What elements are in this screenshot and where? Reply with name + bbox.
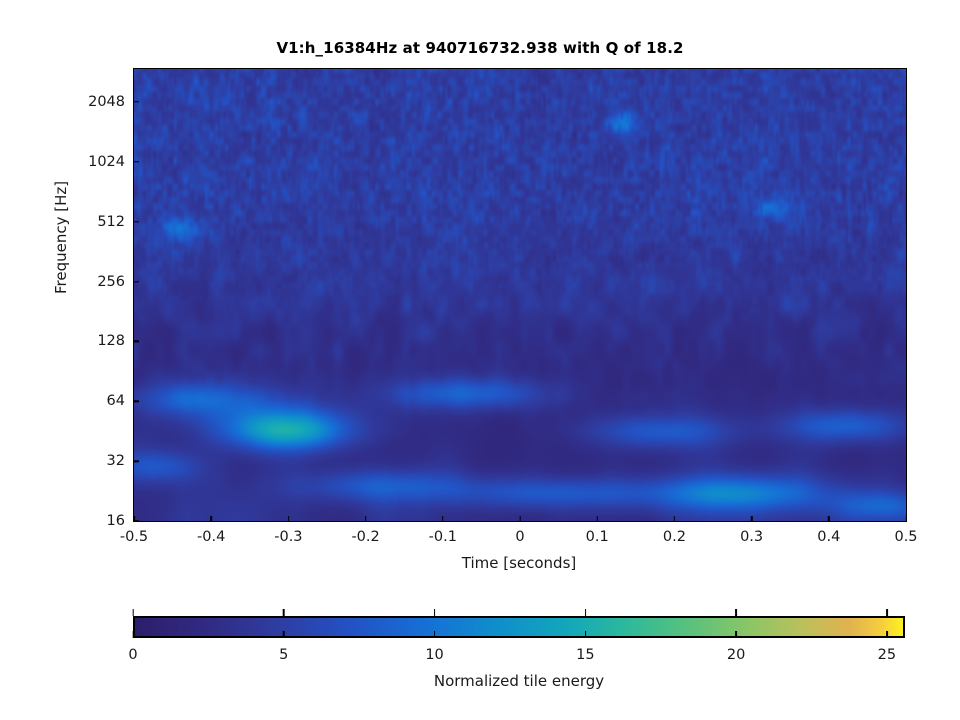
- y-axis-label: Frequency [Hz]: [52, 181, 70, 294]
- x-tick--0p3: -0.3: [274, 521, 302, 545]
- x-tick-0p1: 0.1: [586, 521, 609, 545]
- y-tick-128: 128: [97, 333, 134, 349]
- colorbar-tick-25: 25: [878, 638, 896, 663]
- y-tick-256: 256: [97, 274, 134, 290]
- spectrogram-image[interactable]: [134, 69, 906, 521]
- y-tick-1024: 1024: [88, 154, 134, 170]
- colorbar-tick-0: 0: [128, 638, 137, 663]
- x-tick-0: 0: [515, 521, 524, 545]
- colorbar-tick-10: 10: [425, 638, 443, 663]
- page-title: V1:h_16384Hz at 940716732.938 with Q of …: [0, 39, 960, 57]
- colorbar-gradient: [135, 618, 903, 636]
- colorbar-tick-15: 15: [576, 638, 594, 663]
- x-tick--0p2: -0.2: [351, 521, 379, 545]
- x-axis-label: Time [seconds]: [133, 554, 905, 572]
- x-tick-0p5: 0.5: [894, 521, 917, 545]
- colorbar-label: Normalized tile energy: [133, 672, 905, 690]
- y-tick-512: 512: [97, 214, 134, 230]
- y-tick-32: 32: [107, 453, 134, 469]
- y-tick-2048: 2048: [88, 94, 134, 110]
- x-tick--0p5: -0.5: [120, 521, 148, 545]
- x-tick-0p2: 0.2: [663, 521, 686, 545]
- colorbar-tick-20: 20: [727, 638, 745, 663]
- y-tick-64: 64: [107, 393, 134, 409]
- x-tick--0p4: -0.4: [197, 521, 225, 545]
- x-tick-0p4: 0.4: [817, 521, 840, 545]
- colorbar[interactable]: [133, 616, 905, 638]
- spectrogram-figure: V1:h_16384Hz at 940716732.938 with Q of …: [0, 0, 960, 720]
- spectrogram-axes[interactable]: 16326412825651210242048 -0.5-0.4-0.3-0.2…: [133, 68, 907, 522]
- x-tick--0p1: -0.1: [429, 521, 457, 545]
- x-tick-0p3: 0.3: [740, 521, 763, 545]
- colorbar-tick-5: 5: [279, 638, 288, 663]
